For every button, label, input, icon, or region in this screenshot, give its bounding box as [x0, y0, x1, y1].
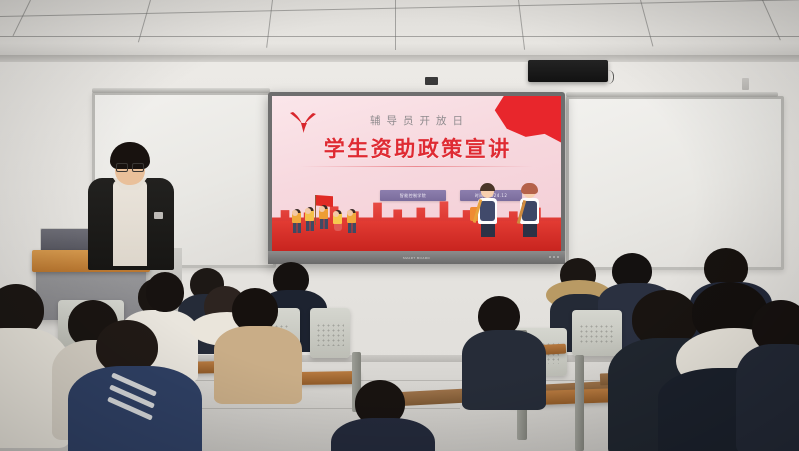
wall-sensor-icon — [425, 77, 438, 85]
whiteboard-right — [566, 96, 784, 270]
badge-department: 智能控制学院 — [380, 190, 446, 201]
slide-divider — [300, 166, 533, 167]
ceiling-grid — [0, 0, 799, 62]
slide-ground — [272, 221, 561, 251]
speaker-bar-icon — [528, 60, 608, 82]
classroom-photo: 辅导员开放日 学生资助政策宣讲 智能控制学院 时间：2024.12 — [0, 0, 799, 451]
slide-student — [305, 208, 314, 231]
seat-back — [310, 308, 350, 358]
desk-leg — [575, 355, 584, 451]
whiteboard-left-rail — [92, 88, 270, 93]
slide-figure-male — [478, 185, 497, 237]
slide-figure-female — [520, 185, 539, 237]
slide-student — [292, 210, 301, 233]
bezel-indicator-icon — [549, 256, 559, 258]
flag-pole-icon — [315, 195, 316, 225]
slide-student — [333, 211, 342, 231]
wall-fixture-icon — [742, 78, 749, 90]
slide-student — [347, 210, 356, 233]
slide-title: 学生资助政策宣讲 — [272, 133, 561, 163]
presenter-shirt — [113, 180, 147, 266]
presentation-display[interactable]: 辅导员开放日 学生资助政策宣讲 智能控制学院 时间：2024.12 — [268, 92, 565, 264]
display-bezel: SMART BOARD — [268, 251, 565, 264]
slide-screen: 辅导员开放日 学生资助政策宣讲 智能控制学院 时间：2024.12 — [272, 96, 561, 251]
eyeglasses-icon — [116, 163, 144, 170]
display-brand: SMART BOARD — [403, 256, 430, 260]
slide-subtitle: 辅导员开放日 — [272, 113, 561, 128]
slide-student — [319, 206, 328, 229]
seat-back — [572, 310, 622, 356]
whiteboard-right-rail — [566, 92, 778, 97]
presenter-jacket-tag — [154, 212, 163, 219]
